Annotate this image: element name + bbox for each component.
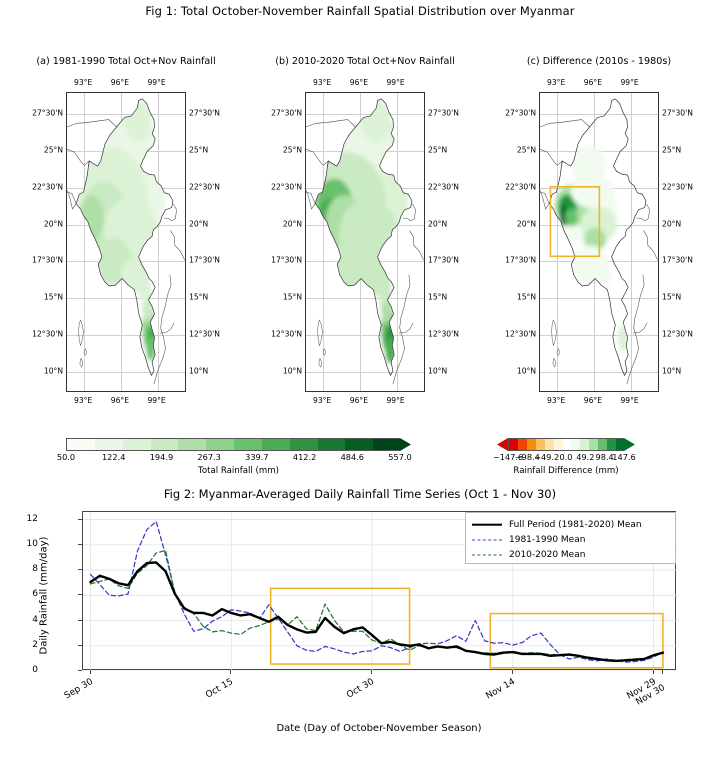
figure1-title: Fig 1: Total October-November Rainfall S… (0, 4, 720, 18)
colorbar-diff-ticks: −147.6−98.4−49.20.049.298.4147.6 (497, 452, 635, 464)
map-a-lat-tick: 22°30'N (189, 182, 220, 191)
map-b-rainfall-shading (307, 99, 409, 364)
map-b-lat-tick: 10°N (428, 367, 447, 376)
timeseries-x-tick-mark (662, 670, 663, 674)
map-a-lon-tick: 93°E (74, 78, 92, 87)
legend-swatch (472, 534, 502, 546)
rainfall-blob (79, 195, 103, 242)
map-a-lat-ticks-right: 27°30'N25°N22°30'N20°N17°30'N15°N12°30'N… (186, 92, 232, 392)
neighbour-boundary (154, 275, 171, 384)
neighbour-boundary (306, 120, 356, 127)
map-a-lat-ticks-left: 27°30'N25°N22°30'N20°N17°30'N15°N12°30'N… (20, 92, 66, 392)
map-a-lon-tick: 93°E (74, 396, 92, 405)
neighbour-boundary (170, 230, 186, 263)
map-c-lat-tick: 10°N (517, 367, 536, 376)
map-b-lat-tick: 25°N (283, 145, 302, 154)
map-a-lat-tick: 12°30'N (189, 330, 220, 339)
island-outline (557, 349, 560, 356)
timeseries-y-tick-mark (78, 594, 82, 595)
colorbar-segment (67, 439, 95, 450)
map-b-lat-tick: 12°30'N (271, 330, 302, 339)
map-b-lat-tick: 25°N (428, 145, 447, 154)
map-a-lon-ticks-top: 93°E96°E99°E (41, 78, 211, 90)
map-a-lon-ticks-bottom: 93°E96°E99°E (41, 396, 211, 408)
map-b-lat-tick: 17°30'N (271, 256, 302, 265)
map-b-lat-tick: 22°30'N (271, 182, 302, 191)
map-b-lat-tick: 20°N (428, 219, 447, 228)
timeseries-y-tick: 4 (32, 615, 38, 625)
map-a-lon-tick: 99°E (147, 396, 165, 405)
rainfall-blob (572, 146, 606, 184)
colorbar-segment (234, 439, 262, 450)
colorbar-tick-label: 339.7 (245, 452, 268, 462)
neighbour-boundary (633, 323, 647, 333)
map-c-lat-tick: 22°30'N (662, 182, 693, 191)
map-a-lat-tick: 10°N (44, 367, 63, 376)
neighbour-boundary (409, 230, 425, 263)
colorbar-arrow-max (624, 438, 635, 451)
colorbar-total-ticks: 50.0122.4194.9267.3339.7412.2484.6557.0 (66, 452, 411, 464)
timeseries-y-tick: 10 (27, 539, 38, 549)
map-b-lat-tick: 20°N (283, 219, 302, 228)
map-a-lat-tick: 22°30'N (32, 182, 63, 191)
map-c-lat-tick: 27°30'N (505, 108, 536, 117)
neighbour-boundary (643, 230, 659, 263)
neighbour-boundary (399, 323, 413, 333)
map-c-lon-tick: 96°E (584, 396, 602, 405)
timeseries-x-tick-mark (371, 670, 372, 674)
colorbar-segment (318, 439, 346, 450)
map-c-lat-tick: 27°30'N (662, 108, 693, 117)
timeseries-x-tick: Sep 30 (51, 677, 94, 708)
timeseries-y-tick: 0 (32, 665, 38, 675)
map-c-lat-tick: 20°N (517, 219, 536, 228)
map-a-rainfall-shading (77, 100, 166, 360)
timeseries-x-tick-mark (230, 670, 231, 674)
colorbar-total-strip (66, 438, 400, 451)
island-outline (552, 320, 557, 346)
map-c-lat-tick: 17°30'N (505, 256, 536, 265)
colorbar-segment (373, 439, 401, 450)
neighbour-boundary (164, 204, 177, 221)
colorbar-arrow-min (497, 438, 508, 451)
island-outline (84, 349, 87, 356)
map-b-lon-tick: 96°E (350, 78, 368, 87)
map-c-lat-ticks-left: 27°30'N25°N22°30'N20°N17°30'N15°N12°30'N… (493, 92, 539, 392)
neighbour-boundary (540, 120, 590, 127)
map-b-plot-area (305, 92, 425, 392)
map-b-lon-tick: 99°E (386, 396, 404, 405)
map-a-lat-tick: 25°N (189, 145, 208, 154)
timeseries-legend: Full Period (1981-2020) Mean1981-1990 Me… (465, 512, 676, 564)
timeseries-y-tick: 2 (32, 640, 38, 650)
timeseries-x-axis-label: Date (Day of October-November Season) (82, 723, 676, 734)
timeseries-y-tick: 8 (32, 564, 38, 574)
island-outline (80, 358, 83, 367)
map-b-lat-tick: 10°N (283, 367, 302, 376)
neighbour-boundary (393, 275, 410, 384)
map-c-lat-tick: 17°30'N (662, 256, 693, 265)
island-outline (319, 358, 322, 367)
colorbar-total-rainfall: 50.0122.4194.9267.3339.7412.2484.6557.0 … (66, 438, 411, 464)
map-c-lat-tick: 20°N (662, 219, 681, 228)
map-b-lon-tick: 96°E (350, 396, 368, 405)
timeseries-y-tick: 12 (27, 514, 38, 524)
map-c-lon-tick: 93°E (547, 78, 565, 87)
timeseries-y-tick: 6 (32, 589, 38, 599)
map-panel-b-title: (b) 2010-2020 Total Oct+Nov Rainfall (247, 56, 483, 67)
neighbour-boundary (67, 191, 76, 209)
legend-label: Full Period (1981-2020) Mean (509, 520, 642, 530)
timeseries-x-tick-mark (512, 670, 513, 674)
neighbour-boundary (540, 191, 549, 209)
map-a-lat-tick: 12°30'N (32, 330, 63, 339)
map-c-rainfall-shading (553, 146, 628, 351)
rainfall-blob (378, 272, 391, 305)
neighbour-boundary (67, 120, 117, 127)
colorbar-tick-label: 557.0 (388, 452, 411, 462)
map-a-lat-tick: 27°30'N (189, 108, 220, 117)
timeseries-x-tick: Nov 14 (474, 677, 517, 708)
map-c-geometry (540, 93, 659, 392)
map-c-lat-tick: 25°N (662, 145, 681, 154)
map-b-lat-ticks-left: 27°30'N25°N22°30'N20°N17°30'N15°N12°30'N… (259, 92, 305, 392)
map-a-lon-tick: 96°E (111, 78, 129, 87)
map-c-lat-tick: 12°30'N (505, 330, 536, 339)
map-c-lon-tick: 93°E (547, 396, 565, 405)
map-c-lon-tick: 99°E (620, 78, 638, 87)
island-outline (553, 358, 556, 367)
map-c-lat-tick: 10°N (662, 367, 681, 376)
map-c-lon-tick: 96°E (584, 78, 602, 87)
neighbour-boundary (306, 149, 328, 166)
colorbar-tick-label: 194.9 (150, 452, 173, 462)
map-panel-b: (b) 2010-2020 Total Oct+Nov Rainfall 93°… (247, 56, 483, 406)
map-a-lat-tick: 15°N (44, 293, 63, 302)
timeseries-y-tick-mark (78, 569, 82, 570)
map-b-lat-tick: 15°N (283, 293, 302, 302)
map-b-lat-tick: 22°30'N (428, 182, 459, 191)
map-a-lat-tick: 17°30'N (189, 256, 220, 265)
map-a-lon-tick: 96°E (111, 396, 129, 405)
rainfall-blob (125, 100, 152, 141)
timeseries-y-tick-mark (78, 645, 82, 646)
island-outline (79, 320, 84, 346)
legend-label: 2010-2020 Mean (509, 550, 585, 560)
map-a-lat-tick: 20°N (44, 219, 63, 228)
figure-root: Fig 1: Total October-November Rainfall S… (0, 0, 720, 768)
map-a-lat-tick: 27°30'N (32, 108, 63, 117)
colorbar-segment (290, 439, 318, 450)
colorbar-tick-label: 412.2 (293, 452, 316, 462)
map-c-lat-tick: 22°30'N (505, 182, 536, 191)
map-b-lat-tick: 15°N (428, 293, 447, 302)
rainfall-blob (565, 208, 577, 226)
map-a-lat-tick: 25°N (44, 145, 63, 154)
legend-swatch (472, 519, 502, 531)
map-c-lon-ticks-bottom: 93°E96°E99°E (514, 396, 684, 408)
colorbar-total-label: Total Rainfall (mm) (66, 466, 411, 476)
map-c-lat-tick: 15°N (662, 293, 681, 302)
colorbar-segment (206, 439, 234, 450)
map-b-lon-tick: 93°E (313, 396, 331, 405)
neighbour-boundary (637, 204, 650, 221)
colorbar-rainfall-difference: −147.6−98.4−49.20.049.298.4147.6 Rainfal… (497, 438, 635, 464)
colorbar-segment (95, 439, 123, 450)
map-b-lat-tick: 27°30'N (271, 108, 302, 117)
map-a-lat-tick: 20°N (189, 219, 208, 228)
colorbar-segment (178, 439, 206, 450)
colorbar-tick-label: 484.6 (341, 452, 364, 462)
map-panel-c-title: (c) Difference (2010s - 1980s) (486, 56, 712, 67)
timeseries-y-axis-label: Daily Rainfall (mm/day) (39, 506, 50, 686)
map-a-plot-area (66, 92, 186, 392)
colorbar-diff-label: Rainfall Difference (mm) (497, 466, 635, 476)
map-c-lon-tick: 99°E (620, 396, 638, 405)
timeseries-y-tick-mark (78, 519, 82, 520)
colorbar-tick-label: 0.0 (559, 452, 572, 462)
map-a-geometry (67, 93, 186, 392)
timeseries-x-tick-mark (90, 670, 91, 674)
timeseries-x-tick-mark (653, 670, 654, 674)
colorbar-segment (123, 439, 151, 450)
map-b-lon-ticks-top: 93°E96°E99°E (280, 78, 450, 90)
colorbar-tick-label: 49.2 (576, 452, 594, 462)
map-a-lat-tick: 10°N (189, 367, 208, 376)
colorbar-segment (345, 439, 373, 450)
legend-swatch (472, 549, 502, 561)
map-panel-a: (a) 1981-1990 Total Oct+Nov Rainfall 93°… (8, 56, 244, 406)
rainfall-blob (590, 264, 612, 285)
legend-item[interactable]: Full Period (1981-2020) Mean (472, 517, 669, 532)
colorbar-tick-label: −49.2 (534, 452, 559, 462)
colorbar-segment (262, 439, 290, 450)
map-b-lon-tick: 99°E (386, 78, 404, 87)
colorbar-diff-strip (508, 438, 624, 451)
colorbar-tick-label: 122.4 (102, 452, 125, 462)
figure2-title: Fig 2: Myanmar-Averaged Daily Rainfall T… (0, 487, 720, 501)
neighbour-boundary (160, 323, 174, 333)
map-b-lon-tick: 93°E (313, 78, 331, 87)
map-panel-a-title: (a) 1981-1990 Total Oct+Nov Rainfall (8, 56, 244, 67)
map-a-lat-tick: 15°N (189, 293, 208, 302)
map-c-lat-ticks-right: 27°30'N25°N22°30'N20°N17°30'N15°N12°30'N… (659, 92, 705, 392)
neighbour-boundary (540, 149, 562, 166)
rainfall-blob (386, 337, 396, 364)
map-c-lat-tick: 12°30'N (662, 330, 693, 339)
map-b-lat-tick: 27°30'N (428, 108, 459, 117)
legend-item[interactable]: 1981-1990 Mean (472, 532, 669, 547)
map-panel-c: (c) Difference (2010s - 1980s) 93°E96°E9… (486, 56, 712, 406)
island-outline (323, 349, 326, 356)
map-c-lat-tick: 25°N (517, 145, 536, 154)
colorbar-tick-label: 147.6 (612, 452, 635, 462)
map-c-lat-tick: 15°N (517, 293, 536, 302)
map-c-plot-area (539, 92, 659, 392)
map-b-lat-ticks-right: 27°30'N25°N22°30'N20°N17°30'N15°N12°30'N… (425, 92, 471, 392)
legend-item[interactable]: 2010-2020 Mean (472, 547, 669, 562)
map-b-geometry (306, 93, 425, 392)
map-a-lat-tick: 17°30'N (32, 256, 63, 265)
timeseries-line-2010-2020-mean (91, 550, 663, 660)
map-c-lon-ticks-top: 93°E96°E99°E (514, 78, 684, 90)
colorbar-arrow-max (400, 438, 411, 451)
colorbar-tick-label: 267.3 (197, 452, 220, 462)
map-b-lat-tick: 17°30'N (428, 256, 459, 265)
timeseries-x-tick: Oct 15 (192, 677, 235, 708)
map-b-lon-ticks-bottom: 93°E96°E99°E (280, 396, 450, 408)
colorbar-segment (151, 439, 179, 450)
timeseries-x-tick: Oct 30 (333, 677, 376, 708)
map-b-lat-tick: 12°30'N (428, 330, 459, 339)
neighbour-boundary (67, 149, 89, 166)
timeseries-y-tick-mark (78, 544, 82, 545)
colorbar-tick-label: 50.0 (57, 452, 75, 462)
neighbour-boundary (627, 275, 644, 384)
island-outline (318, 320, 323, 346)
colorbar-tick-label: 98.4 (596, 452, 614, 462)
map-a-lon-tick: 99°E (147, 78, 165, 87)
neighbour-boundary (306, 191, 315, 209)
timeseries-y-tick-mark (78, 670, 82, 671)
timeseries-y-tick-mark (78, 620, 82, 621)
legend-label: 1981-1990 Mean (509, 535, 585, 545)
